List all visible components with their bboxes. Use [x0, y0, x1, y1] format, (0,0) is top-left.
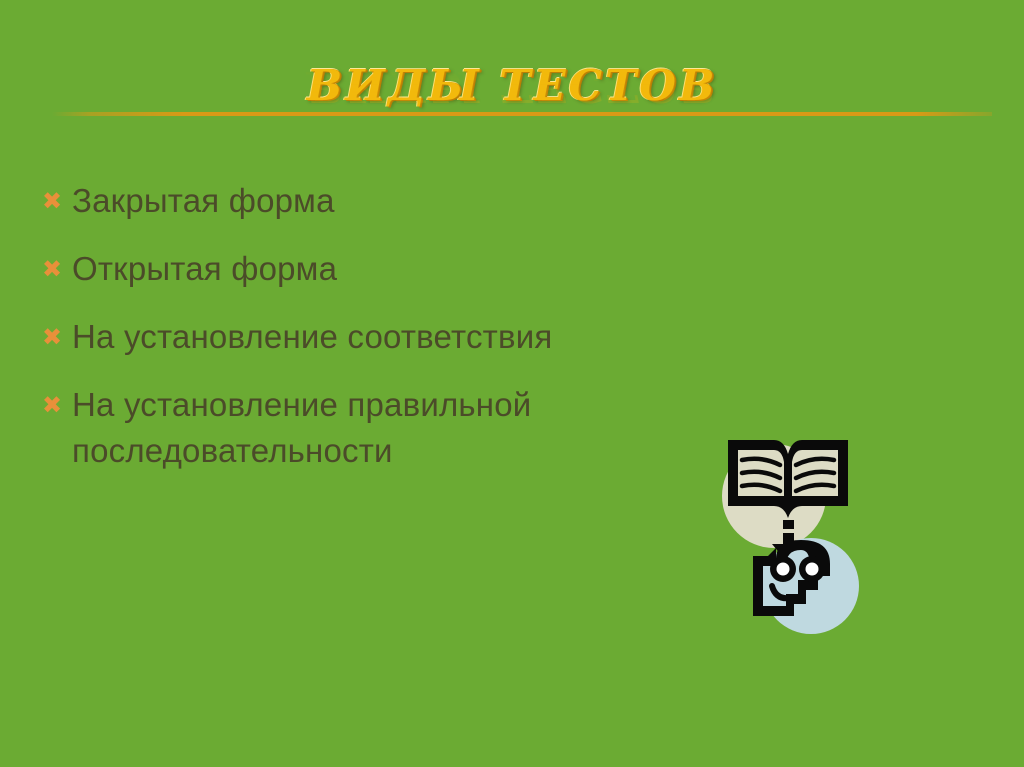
- bullet-list: ✖ Закрытая форма ✖ Открытая форма ✖ На у…: [42, 178, 742, 496]
- list-item: ✖ На установление соответствия: [42, 314, 742, 360]
- list-item-label: Закрытая форма: [72, 178, 742, 224]
- slide-title-block: ВИДЫ ТЕСТОВ ВИДЫ ТЕСТОВ: [0, 62, 1024, 152]
- book-to-reader-illustration: [706, 428, 886, 658]
- list-item: ✖ Закрытая форма: [42, 178, 742, 224]
- cross-bullet-icon: ✖: [42, 314, 72, 360]
- cross-bullet-icon: ✖: [42, 382, 72, 428]
- page-title: ВИДЫ ТЕСТОВ: [0, 62, 1024, 110]
- title-divider-rule: [52, 112, 992, 116]
- cross-bullet-icon: ✖: [42, 178, 72, 224]
- list-item-label: Открытая форма: [72, 246, 742, 292]
- presentation-slide: ВИДЫ ТЕСТОВ ВИДЫ ТЕСТОВ ✖ Закрытая форма…: [0, 0, 1024, 767]
- list-item-label: На установление соответствия: [72, 314, 742, 360]
- list-item-label: На установление правильной последователь…: [72, 382, 742, 474]
- cross-bullet-icon: ✖: [42, 246, 72, 292]
- list-item: ✖ На установление правильной последовате…: [42, 382, 742, 474]
- list-item: ✖ Открытая форма: [42, 246, 742, 292]
